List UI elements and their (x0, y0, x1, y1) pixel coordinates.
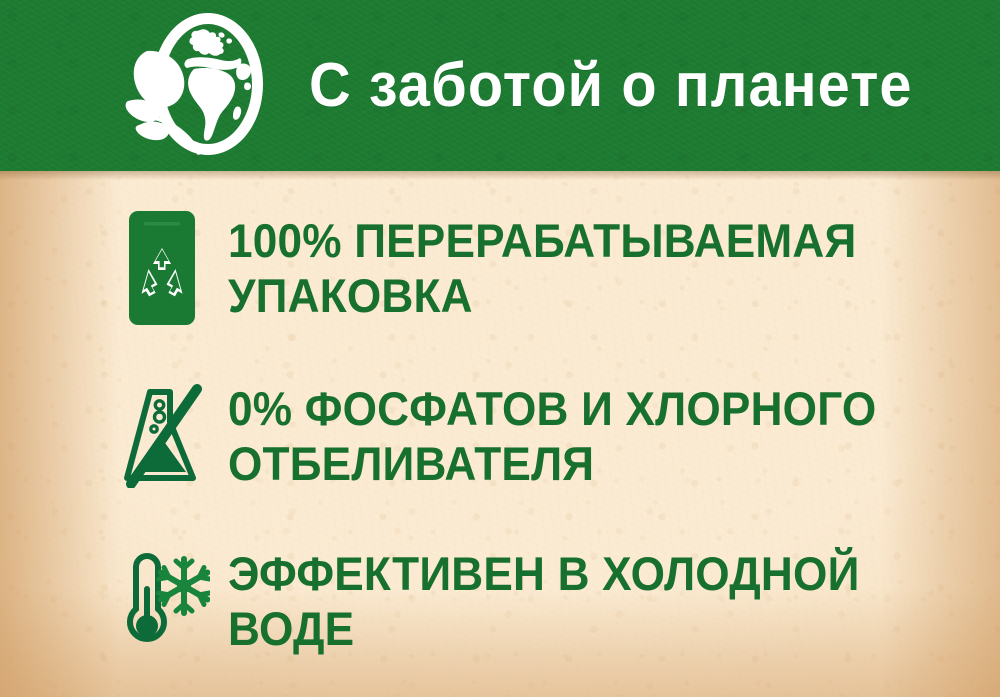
feature-label: ЭФФЕКТИВЕН В ХОЛОДНОЙ ВОДЕ (228, 546, 954, 657)
no-phosphates-flask-icon (98, 384, 226, 488)
banner-content: С заботой о планете (0, 0, 1000, 171)
feature-row: 100% ПЕРЕРАБАТЫВАЕМАЯ УПАКОВКА (0, 203, 1000, 333)
feature-row: ЭФФЕКТИВЕН В ХОЛОДНОЙ ВОДЕ (0, 546, 1000, 656)
feature-label: 100% ПЕРЕРАБАТЫВАЕМАЯ УПАКОВКА (228, 213, 856, 324)
feature-label: 0% ФОСФАТОВ И ХЛОРНОГО ОТБЕЛИВАТЕЛЯ (228, 381, 876, 492)
globe-with-leaves-icon (122, 9, 298, 159)
thermometer-snowflake-icon (98, 551, 226, 651)
banner-title: С заботой о планете (309, 0, 913, 171)
recyclable-package-icon (98, 209, 226, 327)
header-banner: С заботой о планете (0, 0, 1000, 171)
eco-claims-poster: С заботой о планете (0, 0, 1000, 697)
feature-list: 100% ПЕРЕРАБАТЫВАЕМАЯ УПАКОВКА (0, 171, 1000, 697)
snowflake-icon (159, 559, 210, 613)
feature-row: 0% ФОСФАТОВ И ХЛОРНОГО ОТБЕЛИВАТЕЛЯ (0, 371, 1000, 501)
